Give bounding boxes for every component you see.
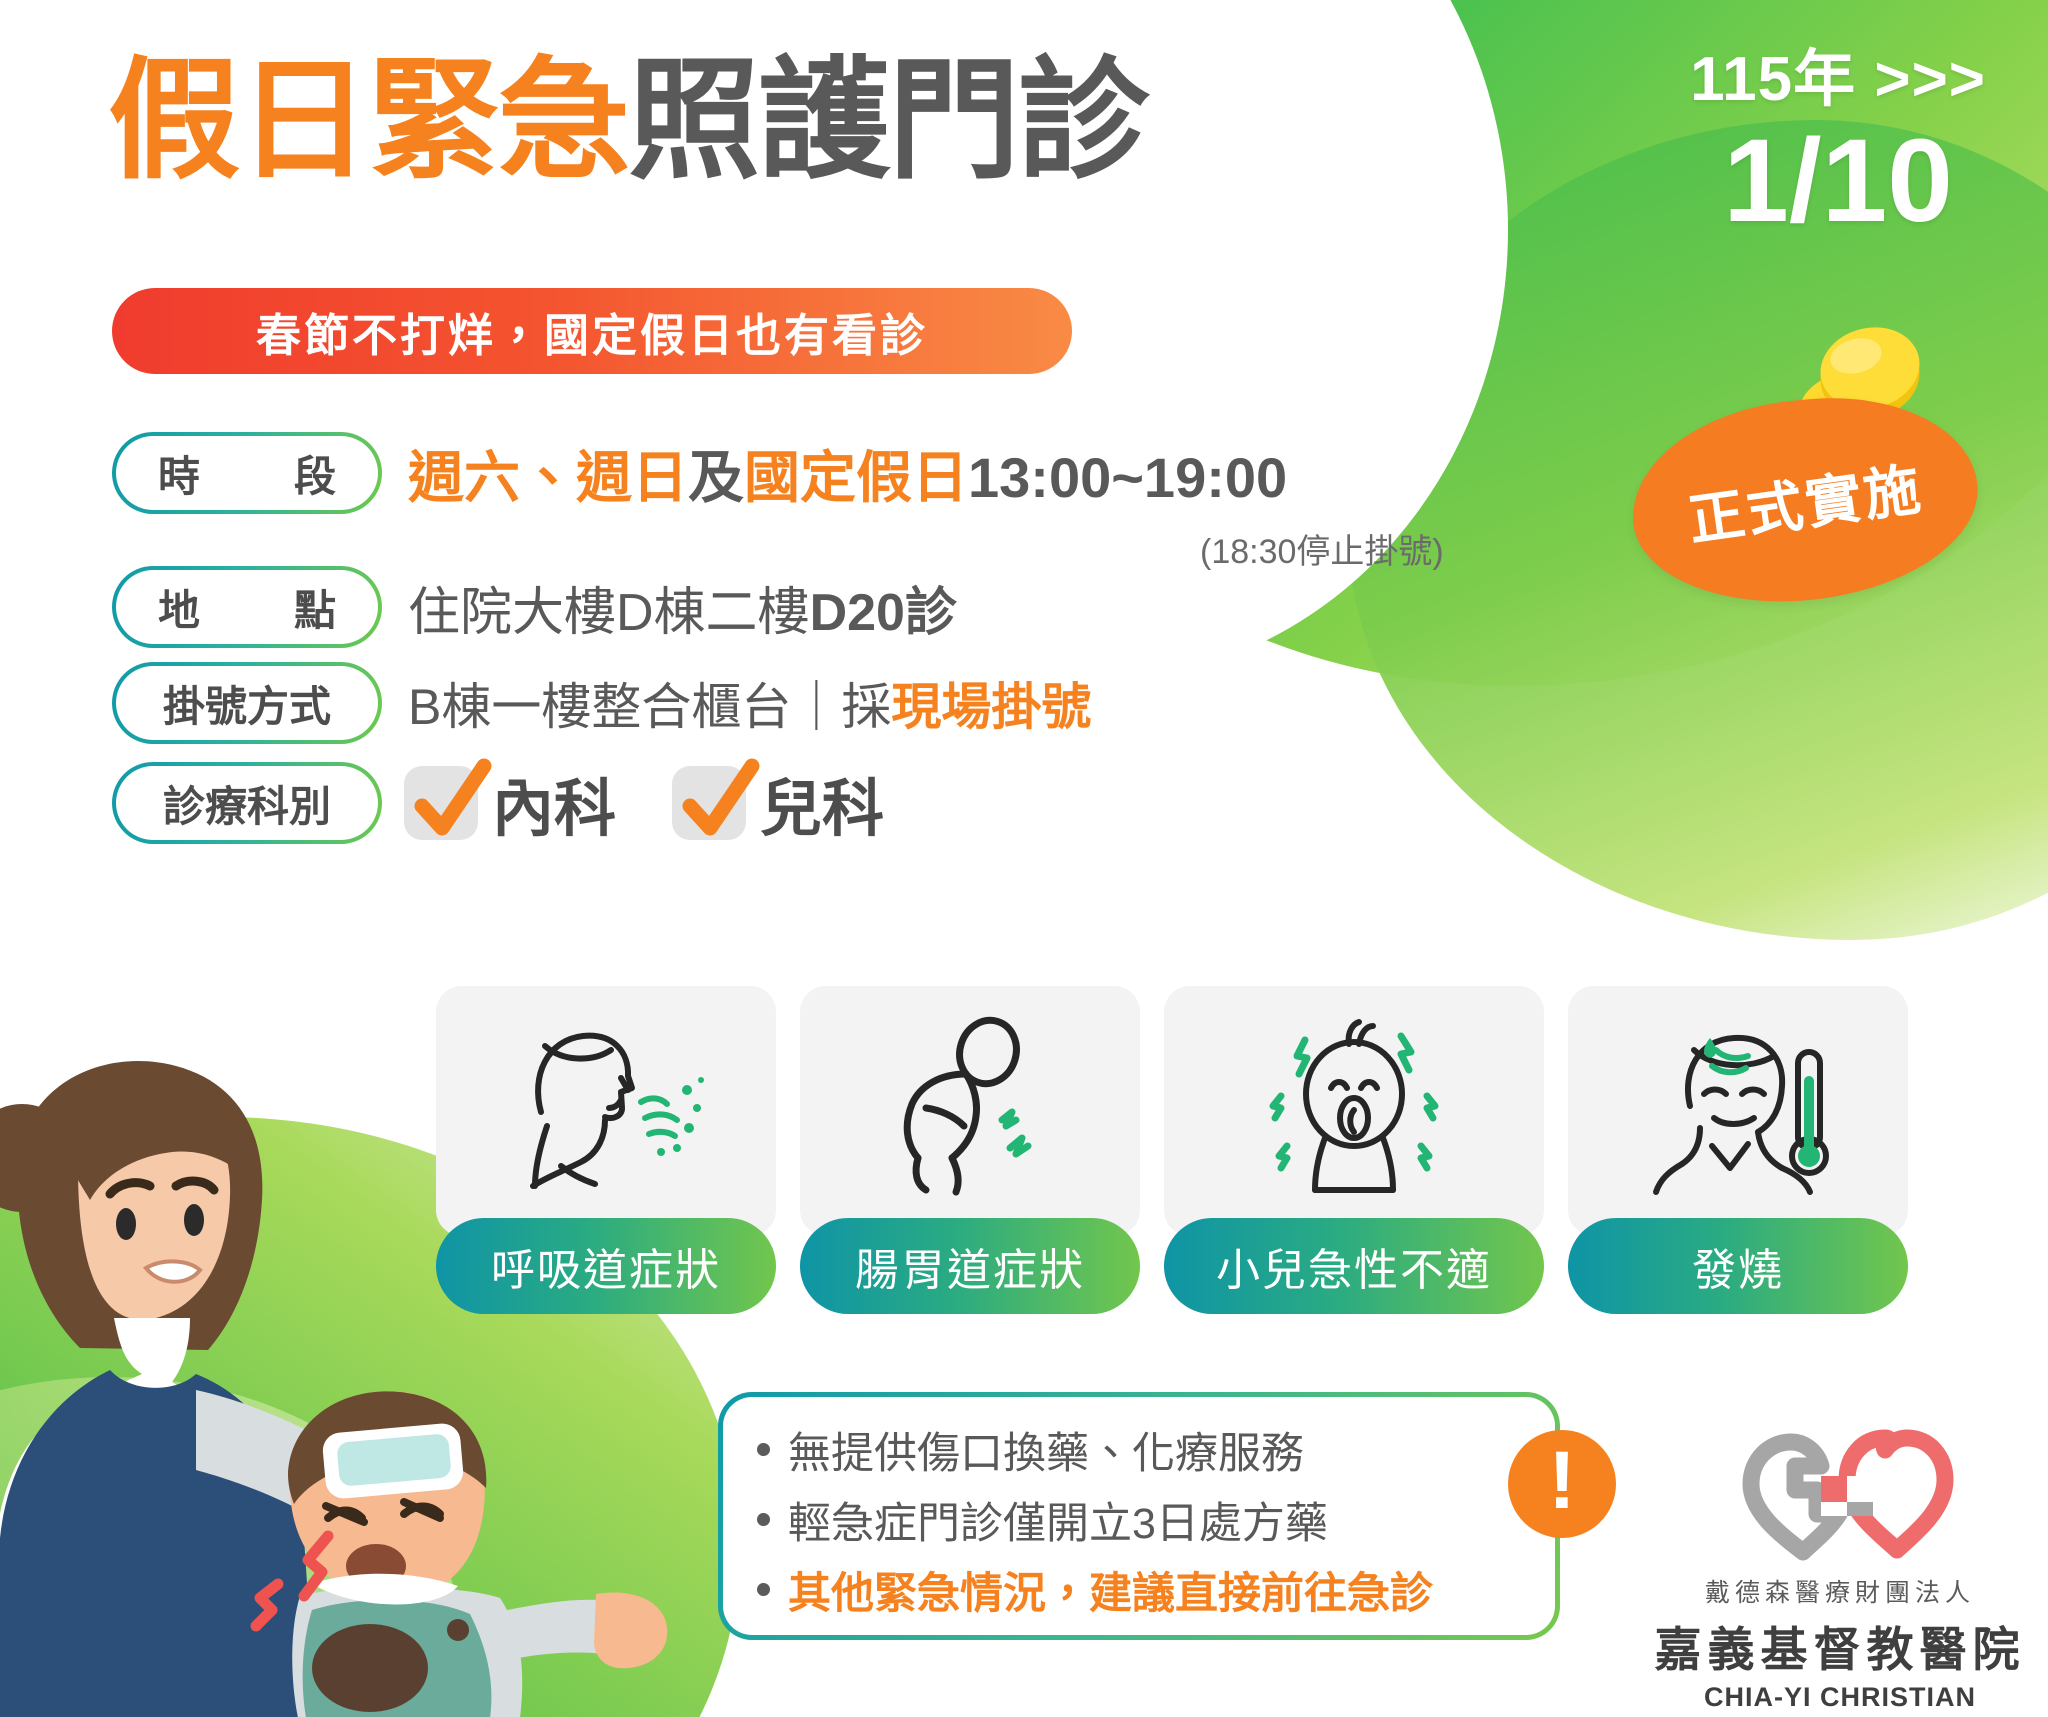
note-item: 輕急症門診僅開立3日處方藥 bbox=[757, 1489, 1525, 1551]
note-text-3: 其他緊急情況，建議直接前往急診 bbox=[788, 1559, 1433, 1621]
fever-thermometer-icon bbox=[1638, 1016, 1838, 1206]
registration-counter: B棟一樓整合櫃台｜採 bbox=[408, 679, 891, 735]
hours-time-range: 13:00~19:00 bbox=[968, 446, 1287, 509]
exclamation-icon: ! bbox=[1508, 1430, 1616, 1538]
department-checkbox-group: 內科 兒科 bbox=[404, 758, 940, 848]
info-row-hours-value: 週六、週日及國定假日13:00~19:00 bbox=[408, 433, 1287, 514]
symptom-label-gastro: 腸胃道症狀 bbox=[855, 1234, 1085, 1298]
symptom-card-pediatric: 小兒急性不適 bbox=[1164, 986, 1544, 1314]
symptom-card-pediatric-pill: 小兒急性不適 bbox=[1164, 1218, 1544, 1314]
info-row-registration: 掛號方式 B棟一樓整合櫃台｜採現場掛號 bbox=[112, 662, 1592, 744]
info-row-departments: 診療科別 內科 兒科 bbox=[112, 758, 1592, 848]
checkbox-box-pediatrics[interactable] bbox=[672, 766, 746, 840]
registration-onsite: 現場掛號 bbox=[891, 679, 1091, 735]
note-text-1: 無提供傷口換藥、化療服務 bbox=[788, 1419, 1304, 1481]
subtitle-text: 春節不打烊，國定假日也有看診 bbox=[256, 299, 928, 364]
symptom-card-fever-pill: 發燒 bbox=[1568, 1218, 1908, 1314]
symptom-card-gastro-image bbox=[800, 986, 1140, 1236]
official-launch-label: 正式實施 bbox=[1683, 443, 1928, 556]
page-title: 假日緊急照護門診 bbox=[108, 48, 1148, 196]
info-row-hours: 時 段 週六、週日及國定假日13:00~19:00 (18:30停止掛號) bbox=[112, 432, 1592, 514]
hours-conjunction: 及 bbox=[688, 446, 744, 509]
page-title-gray: 照護門診 bbox=[628, 44, 1148, 198]
department-checkbox-pediatrics[interactable]: 兒科 bbox=[672, 758, 884, 848]
hospital-logo-line1: 戴德森醫療財團法人 bbox=[1650, 1573, 2030, 1609]
symptom-label-fever: 發燒 bbox=[1692, 1234, 1784, 1298]
exclamation-glyph: ! bbox=[1548, 1440, 1575, 1522]
symptom-label-respiratory: 呼吸道症狀 bbox=[491, 1234, 721, 1298]
department-checkbox-internal-medicine[interactable]: 內科 bbox=[404, 758, 616, 848]
two-hearts-logo-icon bbox=[1725, 1424, 1955, 1566]
info-row-registration-label: 掛號方式 bbox=[163, 673, 331, 734]
info-row-location: 地 點 住院大樓D棟二樓D20診 bbox=[112, 566, 1592, 648]
date-badge-day: 1/10 bbox=[1690, 122, 1986, 240]
location-room: D20診 bbox=[810, 584, 957, 642]
hospital-logo-line2: 嘉義基督教醫院 bbox=[1650, 1611, 2030, 1680]
symptom-card-pediatric-image bbox=[1164, 986, 1544, 1236]
info-row-registration-label-pill: 掛號方式 bbox=[112, 662, 382, 744]
bullet-dot-icon bbox=[757, 1583, 770, 1596]
hours-weekend: 週六、週日 bbox=[408, 446, 688, 509]
crying-baby-icon bbox=[1249, 1014, 1459, 1209]
hospital-logo: 戴德森醫療財團法人 嘉義基督教醫院 CHIA-YI CHRISTIAN HOSP… bbox=[1650, 1424, 2030, 1717]
subtitle-banner: 春節不打烊，國定假日也有看診 bbox=[112, 288, 1072, 374]
date-badge-year: 115年 >>> bbox=[1690, 28, 1986, 118]
info-row-registration-value: B棟一樓整合櫃台｜採現場掛號 bbox=[408, 667, 1091, 739]
date-badge: 115年 >>> 1/10 bbox=[1690, 28, 1986, 240]
notes-box: 無提供傷口換藥、化療服務 輕急症門診僅開立3日處方藥 其他緊急情況，建議直接前往… bbox=[718, 1392, 1560, 1640]
note-item: 無提供傷口換藥、化療服務 bbox=[757, 1419, 1525, 1481]
bullet-dot-icon bbox=[757, 1443, 770, 1456]
check-icon bbox=[678, 758, 764, 850]
symptom-card-gastro-pill: 腸胃道症狀 bbox=[800, 1218, 1140, 1314]
hours-national-holiday: 國定假日 bbox=[744, 446, 968, 509]
info-row-location-label: 地 點 bbox=[132, 577, 362, 638]
info-row-location-label-pill: 地 點 bbox=[112, 566, 382, 648]
thermometer-glyph bbox=[1792, 1052, 1826, 1173]
department-label-pediatrics: 兒科 bbox=[760, 758, 884, 848]
department-label-internal-medicine: 內科 bbox=[492, 758, 616, 848]
check-icon bbox=[410, 758, 496, 850]
info-row-hours-label-pill: 時 段 bbox=[112, 432, 382, 514]
note-text-2: 輕急症門診僅開立3日處方藥 bbox=[788, 1489, 1328, 1551]
mother-holding-sick-baby-illustration bbox=[0, 1018, 680, 1717]
symptom-label-pediatric: 小兒急性不適 bbox=[1216, 1234, 1492, 1298]
poster-canvas: 假日緊急照護門診 115年 >>> 1/10 春節不打烊，國定假日也有看診 正式… bbox=[0, 0, 2048, 1717]
symptom-card-fever-image bbox=[1568, 986, 1908, 1236]
checkbox-box-internal-medicine[interactable] bbox=[404, 766, 478, 840]
info-row-departments-label-pill: 診療科別 bbox=[112, 762, 382, 844]
info-rows: 時 段 週六、週日及國定假日13:00~19:00 (18:30停止掛號) 地 … bbox=[112, 432, 1592, 862]
info-row-departments-label: 診療科別 bbox=[163, 773, 331, 834]
page-title-orange: 假日緊急 bbox=[108, 44, 628, 198]
symptom-card-fever: 發燒 bbox=[1568, 986, 1908, 1314]
bullet-dot-icon bbox=[757, 1513, 770, 1526]
info-row-hours-label: 時 段 bbox=[132, 443, 362, 504]
symptom-card-respiratory-pill: 呼吸道症狀 bbox=[436, 1218, 776, 1314]
stomach-ache-person-icon bbox=[870, 1016, 1070, 1206]
location-building: 住院大樓D棟二樓 bbox=[408, 584, 810, 642]
info-row-location-value: 住院大樓D棟二樓D20診 bbox=[408, 570, 957, 645]
hospital-logo-line3: CHIA-YI CHRISTIAN HOSPITAL bbox=[1650, 1682, 2030, 1717]
note-item: 其他緊急情況，建議直接前往急診 bbox=[757, 1559, 1525, 1621]
symptom-card-gastro: 腸胃道症狀 bbox=[800, 986, 1140, 1314]
